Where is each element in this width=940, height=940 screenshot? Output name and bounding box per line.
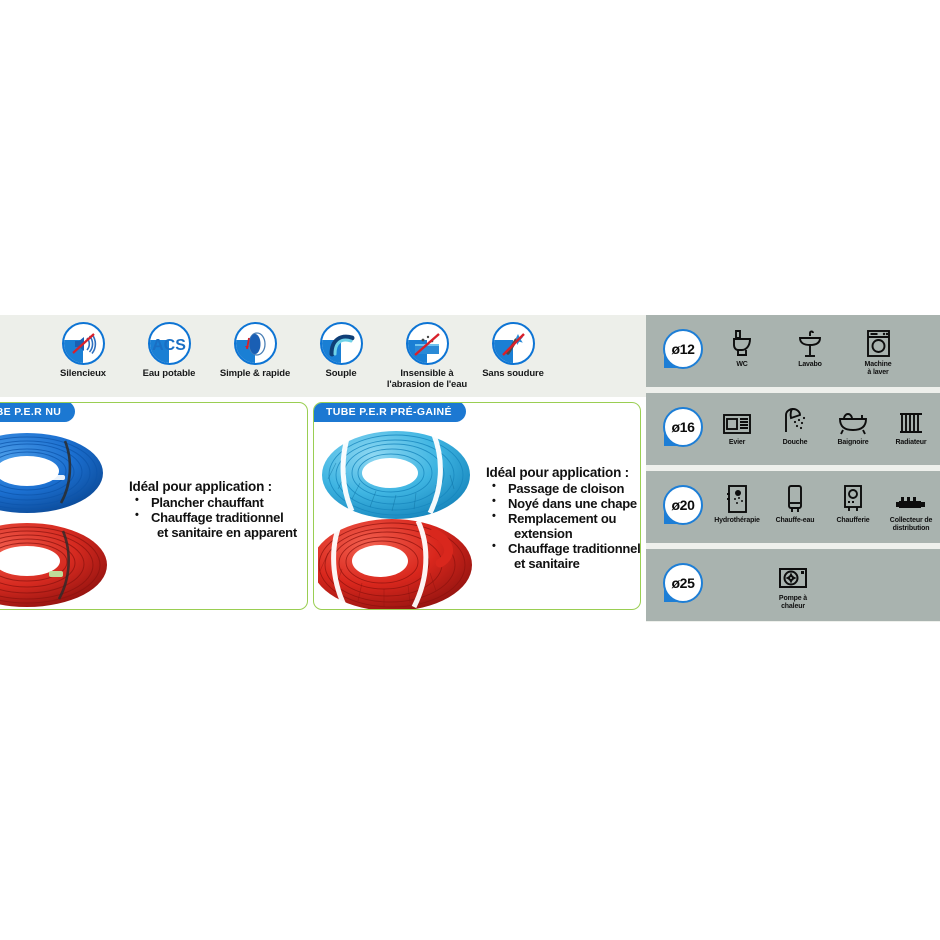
use-label-line2: distribution [893, 525, 930, 532]
diameter-row-25: ø25 [646, 549, 940, 621]
sink-icon [722, 402, 752, 436]
shower-icon [782, 402, 808, 436]
card-bullet-list: Passage de cloison Noyé dans une chape R… [486, 481, 641, 571]
card-text-block: Idéal pour application : Plancher chauff… [129, 479, 308, 540]
feature-sans-soudure: Sans soudure [470, 315, 556, 380]
feature-insensible-abrasion: Insensible à l'abrasion de l'eau [384, 315, 470, 390]
feature-label: Insensible à l'abrasion de l'eau [387, 369, 467, 390]
card-bullet-list: Plancher chauffant Chauffage traditionne… [129, 495, 308, 540]
no-water-abrasion-icon [406, 322, 449, 365]
use-label: Chauffe-eau [776, 517, 815, 525]
card-body: Idéal pour application : Plancher chauff… [0, 403, 307, 609]
manifold-icon [895, 480, 927, 514]
card-intro: Idéal pour application : [129, 479, 308, 494]
use-item-collecteur: Collecteur de distribution [882, 471, 940, 532]
card-bullet-continuation: et sanitaire en apparent [129, 525, 308, 540]
diameter-row-12: ø12 WC [646, 315, 940, 387]
card-bullet: Plancher chauffant [129, 495, 308, 510]
use-item-wc: WC [708, 315, 776, 369]
diameter-row-16: ø16 Evier [646, 393, 940, 465]
use-label: Lavabo [798, 361, 822, 369]
use-label-line2: chaleur [781, 603, 805, 610]
use-item-lavabo: Lavabo [776, 315, 844, 369]
feature-label: Simple & rapide [220, 369, 290, 380]
use-label-line1: Pompe à [779, 595, 807, 602]
use-label-line2: à laver [867, 369, 888, 376]
use-item-radiateur: Radiateur [882, 393, 940, 447]
flexible-bend-icon [320, 322, 363, 365]
use-item-chauffe-eau: Chauffe-eau [766, 471, 824, 525]
feature-label: Souple [325, 369, 356, 380]
use-item-hydrotherapie: Hydrothérapie [708, 471, 766, 525]
use-item-chaufferie: Chaufferie [824, 471, 882, 525]
svg-text:ACS: ACS [152, 337, 186, 354]
card-bullet-continuation: et sanitaire [486, 556, 641, 571]
card-badge-label: TUBE P.E.R PRÉ-GAINÉ [313, 402, 466, 422]
diameter-badge: ø12 [663, 329, 703, 369]
feature-simple-rapide: Simple & rapide [212, 315, 298, 380]
diameter-badge-label: ø16 [663, 407, 703, 447]
use-item-evier: Evier [708, 393, 766, 447]
product-card-tube-per-nu: TUBE P.E.R NU [0, 402, 308, 610]
use-label: Baignoire [838, 439, 869, 447]
use-label: Pompe à chaleur [779, 595, 807, 610]
feature-label: Eau potable [143, 369, 196, 380]
use-label: Evier [729, 439, 745, 447]
hydrotherapy-icon [725, 480, 749, 514]
heat-pump-icon [777, 558, 809, 592]
feature-row: Silencieux ACS Eau potable [0, 315, 646, 397]
water-heater-icon [785, 480, 805, 514]
card-bullet-continuation: extension [486, 526, 641, 541]
card-body: Idéal pour application : Passage de cloi… [314, 403, 640, 609]
washbasin-icon [797, 324, 823, 358]
use-item-douche: Douche [766, 393, 824, 447]
diameter-badge: ø16 [663, 407, 703, 447]
use-label: Machine à laver [865, 361, 892, 376]
use-list: Hydrothérapie Chauffe-eau [708, 471, 940, 543]
boiler-room-icon [842, 480, 864, 514]
use-list: Evier [708, 393, 940, 465]
feature-label-line1: Insensible à [400, 368, 453, 379]
no-welding-icon [492, 322, 535, 365]
use-list: WC Lavabo [708, 315, 940, 387]
use-label: Douche [783, 439, 808, 447]
acs-icon: ACS [148, 322, 191, 365]
infographic-root: Silencieux ACS Eau potable [0, 0, 940, 940]
diameter-panel: ø12 WC [646, 315, 940, 622]
use-item-baignoire: Baignoire [824, 393, 882, 447]
coils-sheathed-image [318, 423, 482, 610]
card-bullet: Remplacement ou [486, 511, 641, 526]
feature-eau-potable: ACS Eau potable [126, 315, 212, 380]
use-label-line1: Machine [865, 361, 892, 368]
diameter-row-20: ø20 [646, 471, 940, 543]
washing-machine-icon [865, 324, 892, 358]
diameter-badge: ø20 [663, 485, 703, 525]
use-item-machine-a-laver: Machine à laver [844, 315, 912, 376]
coils-bare-image [0, 427, 125, 610]
feature-silencieux: Silencieux [40, 315, 126, 380]
use-label: Collecteur de distribution [890, 517, 932, 532]
feature-label-line2: l'abrasion de l'eau [387, 379, 467, 390]
use-label: Hydrothérapie [714, 517, 760, 525]
feature-band: Silencieux ACS Eau potable [0, 315, 646, 397]
use-label: WC [736, 361, 747, 369]
card-bullet: Noyé dans une chape [486, 496, 641, 511]
card-intro: Idéal pour application : [486, 465, 641, 480]
diameter-badge-label: ø12 [663, 329, 703, 369]
toilet-icon [729, 324, 755, 358]
use-label: Chaufferie [836, 517, 869, 525]
coil-roll-icon [234, 322, 277, 365]
card-bullet: Passage de cloison [486, 481, 641, 496]
product-card-tube-per-pre-gaine: TUBE P.E.R PRÉ-GAINÉ [313, 402, 641, 610]
card-bullet: Chauffage traditionnel [129, 510, 308, 525]
use-label-line1: Collecteur de [890, 517, 932, 524]
use-item-pompe-a-chaleur: Pompe à chaleur [759, 549, 827, 610]
radiator-icon [897, 402, 925, 436]
mute-speaker-icon [62, 322, 105, 365]
use-list: Pompe à chaleur [646, 549, 940, 621]
card-text-block: Idéal pour application : Passage de cloi… [486, 465, 641, 571]
feature-souple: Souple [298, 315, 384, 380]
card-bullet: Chauffage traditionnel [486, 541, 641, 556]
diameter-badge-label: ø20 [663, 485, 703, 525]
bathtub-icon [837, 402, 869, 436]
card-badge-label: TUBE P.E.R NU [0, 402, 75, 422]
feature-label: Sans soudure [482, 369, 544, 380]
use-label: Radiateur [896, 439, 927, 447]
feature-label: Silencieux [60, 369, 106, 380]
